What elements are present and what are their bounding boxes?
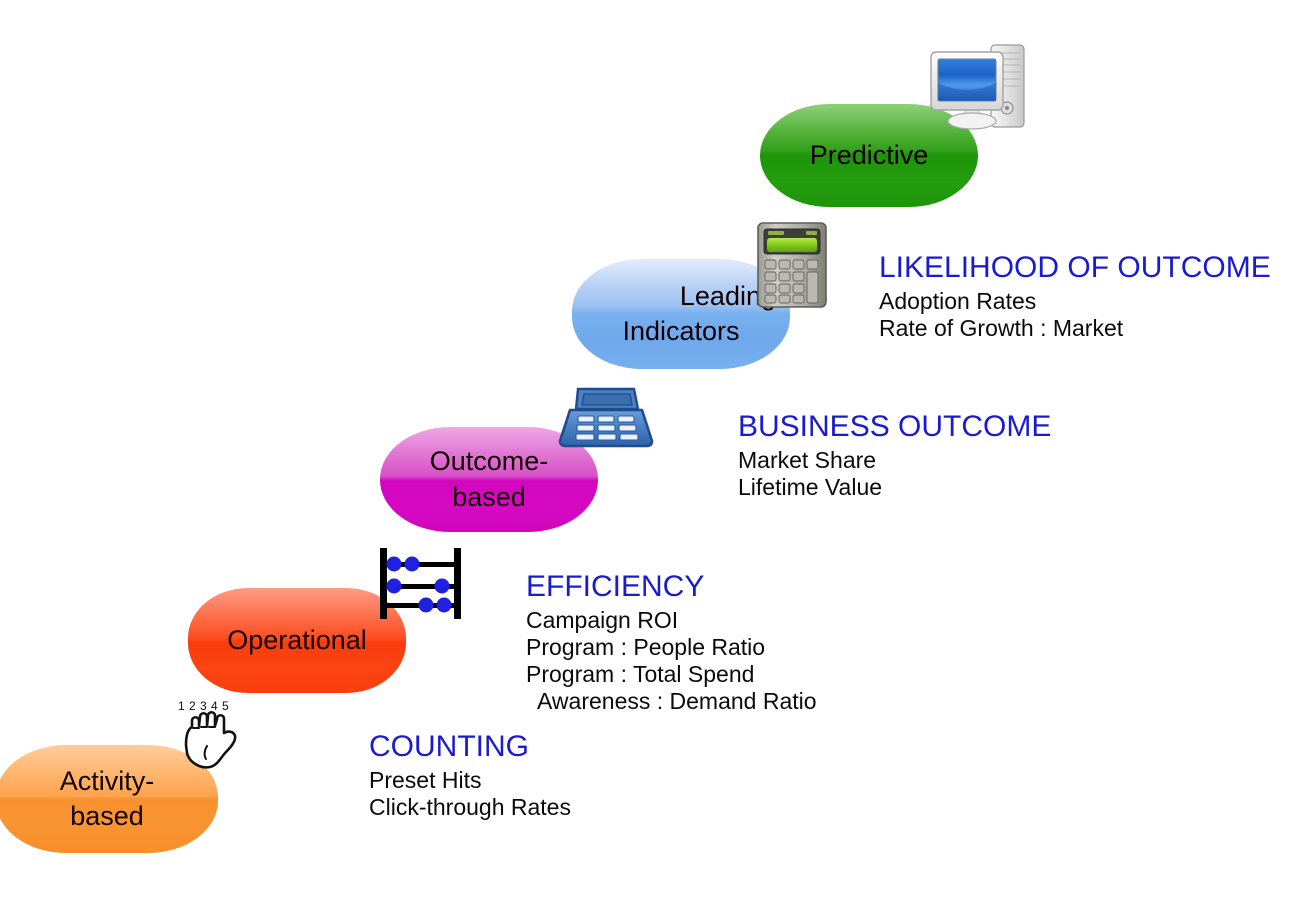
detail-campaign-roi: Campaign ROI	[526, 607, 817, 634]
detail-awareness-demand-ratio: Awareness : Demand Ratio	[526, 688, 817, 715]
detail-preset-hits: Preset Hits	[369, 767, 571, 794]
stage-label-operational: Operational	[227, 623, 367, 658]
detail-click-through-rates: Click-through Rates	[369, 794, 571, 821]
text-block-likelihood-of-outcome: LIKELIHOOD OF OUTCOME Adoption Rates Rat…	[879, 252, 1271, 342]
calculator-blue-icon	[556, 387, 654, 449]
stage-label-indicators: Indicators	[622, 314, 739, 349]
stage-label-based: based	[452, 480, 526, 515]
abacus-icon	[376, 546, 468, 621]
detail-adoption-rates: Adoption Rates	[879, 288, 1271, 315]
calculator-gray-icon	[756, 221, 828, 309]
diagram-canvas: Predictive	[0, 0, 1300, 900]
text-block-business-outcome: BUSINESS OUTCOME Market Share Lifetime V…	[738, 411, 1051, 501]
stage-pill-operational[interactable]: Operational	[188, 588, 406, 693]
desktop-computer-icon	[925, 39, 1029, 138]
detail-program-people-ratio: Program : People Ratio	[526, 634, 817, 661]
detail-program-total-spend: Program : Total Spend	[526, 661, 817, 688]
finger-number-4: 4	[211, 699, 218, 713]
heading-business-outcome: BUSINESS OUTCOME	[738, 411, 1051, 443]
stage-label-outcome: Outcome-	[430, 444, 549, 479]
finger-number-5: 5	[222, 699, 229, 713]
heading-efficiency: EFFICIENCY	[526, 571, 817, 603]
stage-label-based-activity: based	[70, 799, 144, 834]
finger-number-3: 3	[200, 699, 207, 713]
detail-rate-of-growth-market: Rate of Growth : Market	[879, 315, 1271, 342]
heading-counting: COUNTING	[369, 731, 571, 763]
finger-number-2: 2	[189, 699, 196, 713]
hand-five-fingers-icon: 1 2 3 4 5	[174, 699, 254, 774]
heading-likelihood-of-outcome: LIKELIHOOD OF OUTCOME	[879, 252, 1271, 284]
detail-lifetime-value: Lifetime Value	[738, 474, 1051, 501]
stage-label-predictive: Predictive	[810, 138, 929, 173]
detail-market-share: Market Share	[738, 447, 1051, 474]
text-block-counting: COUNTING Preset Hits Click-through Rates	[369, 731, 571, 821]
text-block-efficiency: EFFICIENCY Campaign ROI Program : People…	[526, 571, 817, 715]
finger-number-1: 1	[178, 699, 185, 713]
stage-label-activity: Activity-	[60, 764, 155, 799]
